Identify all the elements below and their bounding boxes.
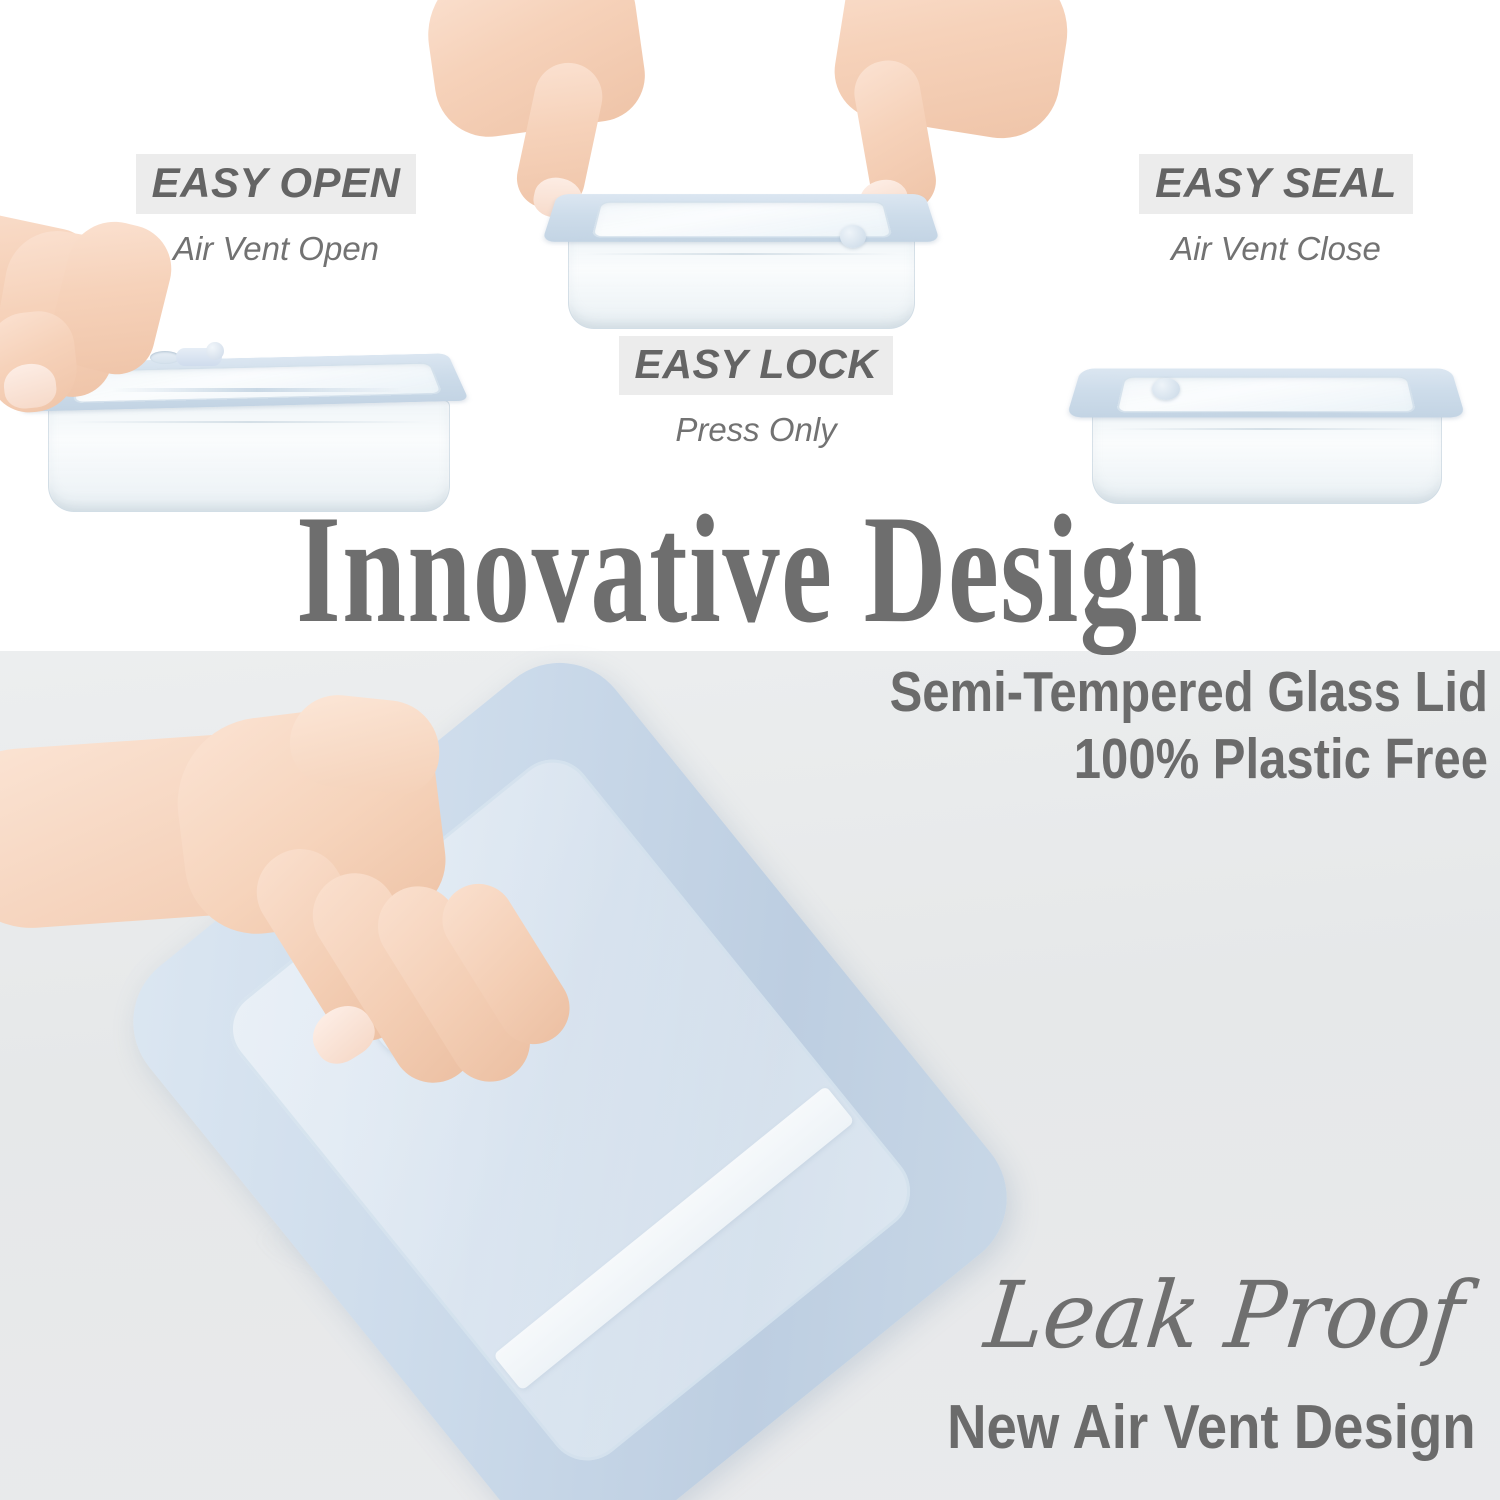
caption-subtitle: Air Vent Open (126, 230, 426, 268)
air-vent-closed (1152, 378, 1180, 400)
highlight-bar-easy-seal: EASY SEAL (1139, 154, 1413, 214)
caption-subtitle: Air Vent Close (1126, 230, 1426, 268)
highlight-bar-easy-open: EASY OPEN (136, 154, 417, 214)
caption-title: EASY LOCK (635, 341, 878, 387)
product-marketing-image: EASY OPEN Air Vent Open EASY LOCK Press … (0, 0, 1500, 1500)
caption-easy-seal: EASY SEAL Air Vent Close (1126, 154, 1426, 268)
highlight-bar-easy-lock: EASY LOCK (619, 336, 894, 395)
glass-base (568, 235, 915, 329)
caption-title: EASY OPEN (152, 159, 401, 206)
hand-holding-lid (0, 690, 530, 1110)
lid-seal-line (1144, 412, 1376, 416)
hero-product-image (120, 690, 1120, 1500)
caption-subtitle: Press Only (606, 411, 906, 449)
caption-easy-lock: EASY LOCK Press Only (606, 336, 906, 449)
leak-proof-script: Leak Proof (980, 1262, 1467, 1369)
product-image-easy-lock (540, 95, 960, 325)
lid-seal-line (618, 238, 846, 242)
main-headline: Innovative Design (195, 492, 1305, 647)
air-vent-closed (840, 225, 866, 248)
caption-easy-open: EASY OPEN Air Vent Open (126, 154, 426, 268)
product-image-easy-seal (1062, 282, 1482, 512)
new-air-vent-design-caption: New Air Vent Design (947, 1392, 1476, 1463)
caption-title: EASY SEAL (1155, 159, 1397, 206)
